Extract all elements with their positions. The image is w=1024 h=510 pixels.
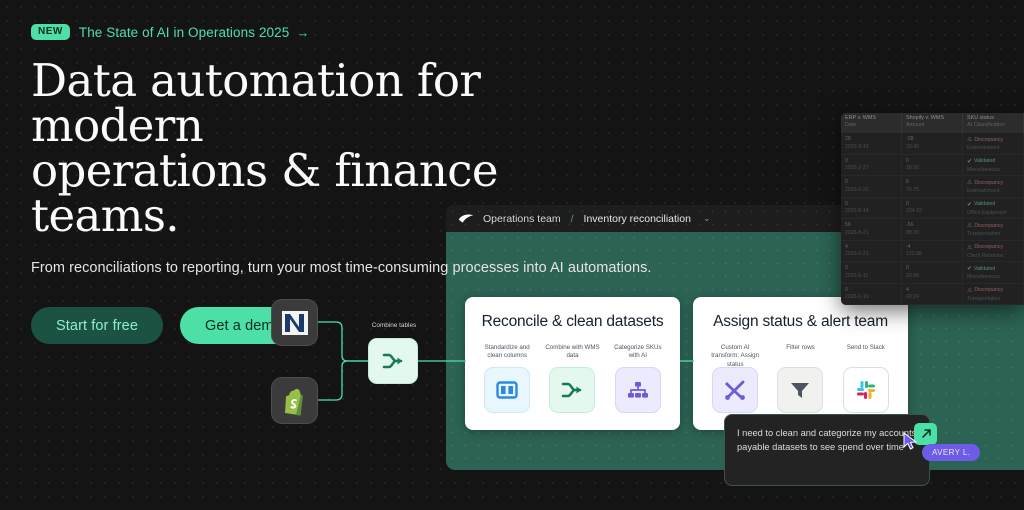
workflow-panel-assign-status[interactable]: Assign status & alert team Custom AI tra… (693, 297, 908, 430)
column-subtitle: Date (845, 122, 897, 128)
cell-sku-status[interactable]: ⚠DiscrepancyClient Relations (963, 241, 1024, 262)
cell-date: 2025-5-14 (845, 208, 897, 216)
workflow-step[interactable]: Custom AI transform: Assign status (707, 344, 763, 413)
cell-sku-status[interactable]: ⚠DiscrepancyTransportation (963, 284, 1024, 305)
cell-shopify-wms[interactable]: 0234.23 (902, 198, 963, 219)
cell-amount: 33.40 (906, 144, 958, 152)
status-badge: ⚠Discrepancy (967, 244, 1019, 253)
cell-erp-wms[interactable]: 02025-6-19 (841, 284, 902, 305)
cell-shopify-wms[interactable]: -4122.88 (902, 241, 963, 262)
step-label: Custom AI transform: Assign status (707, 344, 763, 362)
announcement-banner[interactable]: NEW The State of AI in Operations 2025 → (31, 22, 691, 42)
sitemap-icon[interactable] (615, 367, 661, 413)
announcement-link-label: The State of AI in Operations 2025 (79, 25, 290, 40)
panel-steps: Standardize and clean columns Combine wi… (479, 344, 666, 413)
workflow-step[interactable]: Standardize and clean columns (479, 344, 535, 413)
tools-icon[interactable] (712, 367, 758, 413)
status-badge: ⚠Discrepancy (967, 287, 1019, 296)
cell-amount: 122.88 (906, 251, 958, 259)
workflow-step[interactable]: Filter rows (772, 344, 828, 413)
status-badge: ⚠Discrepancy (967, 136, 1019, 145)
table-row[interactable]: 02025-5-11023.89✔ValidatedMiscellaneous (841, 262, 1024, 284)
cell-category: Entertainment (967, 188, 1019, 196)
cell-erp-wms[interactable]: 562025-8-21 (841, 219, 902, 240)
spreadsheet-body[interactable]: 282025-9-15-2833.40⚠DiscrepancyEntertain… (841, 133, 1024, 305)
page-title: Data automation for modern operations & … (31, 58, 631, 238)
funnel-icon[interactable] (777, 367, 823, 413)
columns-icon[interactable] (484, 367, 530, 413)
ai-prompt-bubble[interactable]: I need to clean and categorize my accoun… (724, 414, 930, 486)
cell-amount: 234.23 (906, 208, 958, 216)
send-arrow-icon (920, 428, 932, 440)
panel-steps: Custom AI transform: Assign status (707, 344, 894, 413)
cell-category: Transportation (967, 231, 1019, 239)
announcement-link[interactable]: The State of AI in Operations 2025 → (79, 25, 310, 40)
cell-amount: 76.75 (906, 187, 958, 195)
cell-sku-status[interactable]: ✔ValidatedMiscellaneous (963, 155, 1024, 176)
column-title: SKU status (967, 115, 994, 121)
cell-amount: 88.20 (906, 230, 958, 238)
cta-row: Start for free Get a demo (31, 307, 691, 344)
step-label: Send to Slack (847, 344, 885, 362)
cell-date: 2025-6-21 (845, 251, 897, 259)
netsuite-logo-icon (280, 308, 310, 338)
status-badge: ✔Validated (967, 158, 1019, 167)
cell-shopify-wms[interactable]: 023.89 (902, 262, 963, 283)
table-row[interactable]: 02025-5-140234.23✔ValidatedOffice Equipm… (841, 198, 1024, 220)
status-badge: ✔Validated (967, 201, 1019, 210)
table-row[interactable]: 02025-2-27028.50✔ValidatedMiscellaneous (841, 155, 1024, 177)
warning-icon: ⚠ (967, 136, 972, 145)
cell-erp-wms[interactable]: 42025-6-21 (841, 241, 902, 262)
warning-icon: ⚠ (967, 179, 972, 188)
status-badge: ⚠Discrepancy (967, 222, 1019, 231)
slack-icon[interactable] (843, 367, 889, 413)
arrow-right-icon: → (296, 25, 309, 40)
ai-prompt-text: I need to clean and categorize my accoun… (737, 428, 916, 452)
source-node-netsuite[interactable] (271, 299, 318, 346)
collaborator-cursor-icon (903, 432, 918, 450)
warning-icon: ⚠ (967, 244, 972, 253)
step-label: Standardize and clean columns (479, 344, 535, 362)
combine-tables-label: Combine tables (365, 322, 423, 329)
table-row[interactable]: 562025-8-21-5688.20⚠DiscrepancyTransport… (841, 219, 1024, 241)
table-row[interactable]: 282025-9-15-2833.40⚠DiscrepancyEntertain… (841, 133, 1024, 155)
cell-date: 2025-5-11 (845, 273, 897, 281)
column-subtitle: AI Classification (967, 122, 1019, 128)
headline-line-2: operations & finance teams. (31, 148, 631, 238)
column-header-shopify-wms[interactable]: Shopify v. WMS Amount (902, 113, 963, 133)
collaborator-cursor-label: AVERY L. (922, 444, 980, 461)
check-circle-icon: ✔ (967, 158, 972, 167)
warning-icon: ⚠ (967, 222, 972, 231)
step-label: Filter rows (786, 344, 815, 362)
start-for-free-button[interactable]: Start for free (31, 307, 163, 344)
cell-sku-status[interactable]: ⚠DiscrepancyEntertainment (963, 176, 1024, 197)
status-badge: ⚠Discrepancy (967, 179, 1019, 188)
cell-shopify-wms[interactable]: -5688.20 (902, 219, 963, 240)
status-badge: ✔Validated (967, 265, 1019, 274)
cell-date: 2025-2-27 (845, 165, 897, 173)
headline-line-1: Data automation for modern (31, 54, 480, 152)
cell-amount: 23.89 (906, 273, 958, 281)
table-row[interactable]: 42025-6-21-4122.88⚠DiscrepancyClient Rel… (841, 241, 1024, 263)
cell-erp-wms[interactable]: 02025-2-27 (841, 155, 902, 176)
cell-date: 2025-6-19 (845, 294, 897, 302)
source-node-shopify[interactable] (271, 377, 318, 424)
cell-shopify-wms[interactable]: 443.24 (902, 284, 963, 305)
step-label: Combine with WMS data (544, 344, 600, 362)
cell-sku-status[interactable]: ⚠DiscrepancyTransportation (963, 219, 1024, 240)
cell-date: 2025-8-21 (845, 230, 897, 238)
check-circle-icon: ✔ (967, 201, 972, 210)
column-header-sku-status[interactable]: SKU status AI Classification (963, 113, 1024, 133)
column-header-erp-wms[interactable]: ERP v. WMS Date (841, 113, 902, 133)
shopify-logo-icon (281, 386, 309, 416)
spreadsheet-overlay[interactable]: ERP v. WMS Date Shopify v. WMS Amount SK… (841, 113, 1024, 305)
table-row[interactable]: 02025-6-20676.75⚠DiscrepancyEntertainmen… (841, 176, 1024, 198)
cell-erp-wms[interactable]: 02025-5-14 (841, 198, 902, 219)
combine-tables-node[interactable] (368, 338, 418, 384)
hero-subtitle: From reconciliations to reporting, turn … (31, 260, 691, 276)
column-title: Shopify v. WMS (906, 115, 944, 121)
check-circle-icon: ✔ (967, 265, 972, 274)
cell-erp-wms[interactable]: 282025-9-15 (841, 133, 902, 154)
cell-date: 2025-9-15 (845, 144, 897, 152)
warning-icon: ⚠ (967, 287, 972, 296)
workflow-step[interactable]: Send to Slack (838, 344, 894, 413)
workflow-step[interactable]: Categorize SKUs with AI (610, 344, 666, 413)
cell-category: Transportation (967, 296, 1019, 304)
workflow-step[interactable]: Combine with WMS data (544, 344, 600, 413)
panel-title: Assign status & alert team (707, 313, 894, 331)
cell-sku-status[interactable]: ⚠DiscrepancyEntertainment (963, 133, 1024, 154)
step-label: Categorize SKUs with AI (610, 344, 666, 362)
cell-sku-status[interactable]: ✔ValidatedMiscellaneous (963, 262, 1024, 283)
spreadsheet-header-row: ERP v. WMS Date Shopify v. WMS Amount SK… (841, 113, 1024, 133)
cell-shopify-wms[interactable]: 676.75 (902, 176, 963, 197)
merge-arrow-icon (381, 351, 405, 371)
hero-section: NEW The State of AI in Operations 2025 →… (31, 22, 691, 344)
cell-category: Miscellaneous (967, 167, 1019, 175)
new-badge: NEW (31, 24, 70, 40)
column-title: ERP v. WMS (845, 115, 876, 121)
cell-erp-wms[interactable]: 02025-6-20 (841, 176, 902, 197)
cell-shopify-wms[interactable]: 028.50 (902, 155, 963, 176)
cell-category: Office Equipment (967, 210, 1019, 218)
cell-amount: 28.50 (906, 165, 958, 173)
merge-arrow-icon[interactable] (549, 367, 595, 413)
cell-sku-status[interactable]: ✔ValidatedOffice Equipment (963, 198, 1024, 219)
cell-category: Client Relations (967, 253, 1019, 261)
cell-category: Miscellaneous (967, 274, 1019, 282)
cell-amount: 43.24 (906, 294, 958, 302)
column-subtitle: Amount (906, 122, 958, 128)
cell-shopify-wms[interactable]: -2833.40 (902, 133, 963, 154)
table-row[interactable]: 02025-6-19443.24⚠DiscrepancyTransportati… (841, 284, 1024, 306)
cell-category: Entertainment (967, 145, 1019, 153)
cell-erp-wms[interactable]: 02025-5-11 (841, 262, 902, 283)
cell-date: 2025-6-20 (845, 187, 897, 195)
